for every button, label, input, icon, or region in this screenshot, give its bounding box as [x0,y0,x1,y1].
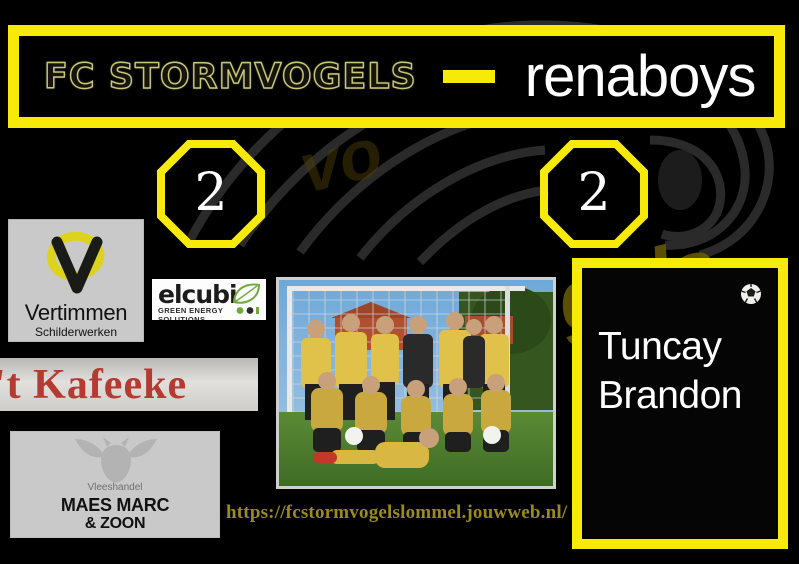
team-photo [276,277,556,489]
away-team-name: renaboys [525,43,756,110]
home-score-badge: 2 [157,140,265,248]
vs-dash-separator [443,70,495,83]
bull-head-icon [73,437,159,485]
sponsor-logo-elcubi: elcubi GREEN ENERGY SOLUTIONS [152,279,266,320]
home-score-value: 2 [194,167,227,219]
sponsor-logo-vertimmen: Vertimmen Schilderwerken [8,219,144,342]
match-title-inner: FC STORMVOGELS renaboys [19,36,774,117]
goalscorers-panel: Tuncay Brandon [572,258,788,549]
sponsor-logo-maes-marc: Vleeshandel MAES MARC & ZOON [10,431,220,538]
home-team-name: FC STORMVOGELS [44,57,417,97]
sponsor-pretitle: Vleeshandel [11,482,219,493]
goalscorer-item: Tuncay [598,322,778,371]
elcubi-dots-icon [236,306,262,315]
goalscorer-list: Tuncay Brandon [598,322,778,420]
vertimmen-v-swirl-logo-icon [37,228,117,302]
sponsor-name: elcubi [158,280,237,309]
sponsor-logo-kafeeke: 't Kafeeke [0,358,258,411]
green-leaf-icon [231,282,261,306]
sponsor-name: MAES MARC [11,495,219,516]
soccer-ball-icon [740,283,762,305]
goalscorers-inner: Tuncay Brandon [582,268,778,539]
away-score-value: 2 [577,167,610,219]
match-result-graphic: gels vo FC STORMVOGELS renaboys 2 2 Vert… [0,0,799,564]
away-score-badge: 2 [540,140,648,248]
sponsor-name: Vertimmen [9,300,143,326]
match-title-banner: FC STORMVOGELS renaboys [8,25,785,128]
sponsor-subtitle: & ZOON [11,515,219,533]
sponsor-name: 't Kafeeke [0,361,187,409]
sponsor-subtitle: Schilderwerken [9,325,143,339]
goalscorer-item: Brandon [598,371,778,420]
team-photo-image [279,280,555,488]
website-url[interactable]: https://fcstormvogelslommel.jouwweb.nl/ [226,502,567,524]
